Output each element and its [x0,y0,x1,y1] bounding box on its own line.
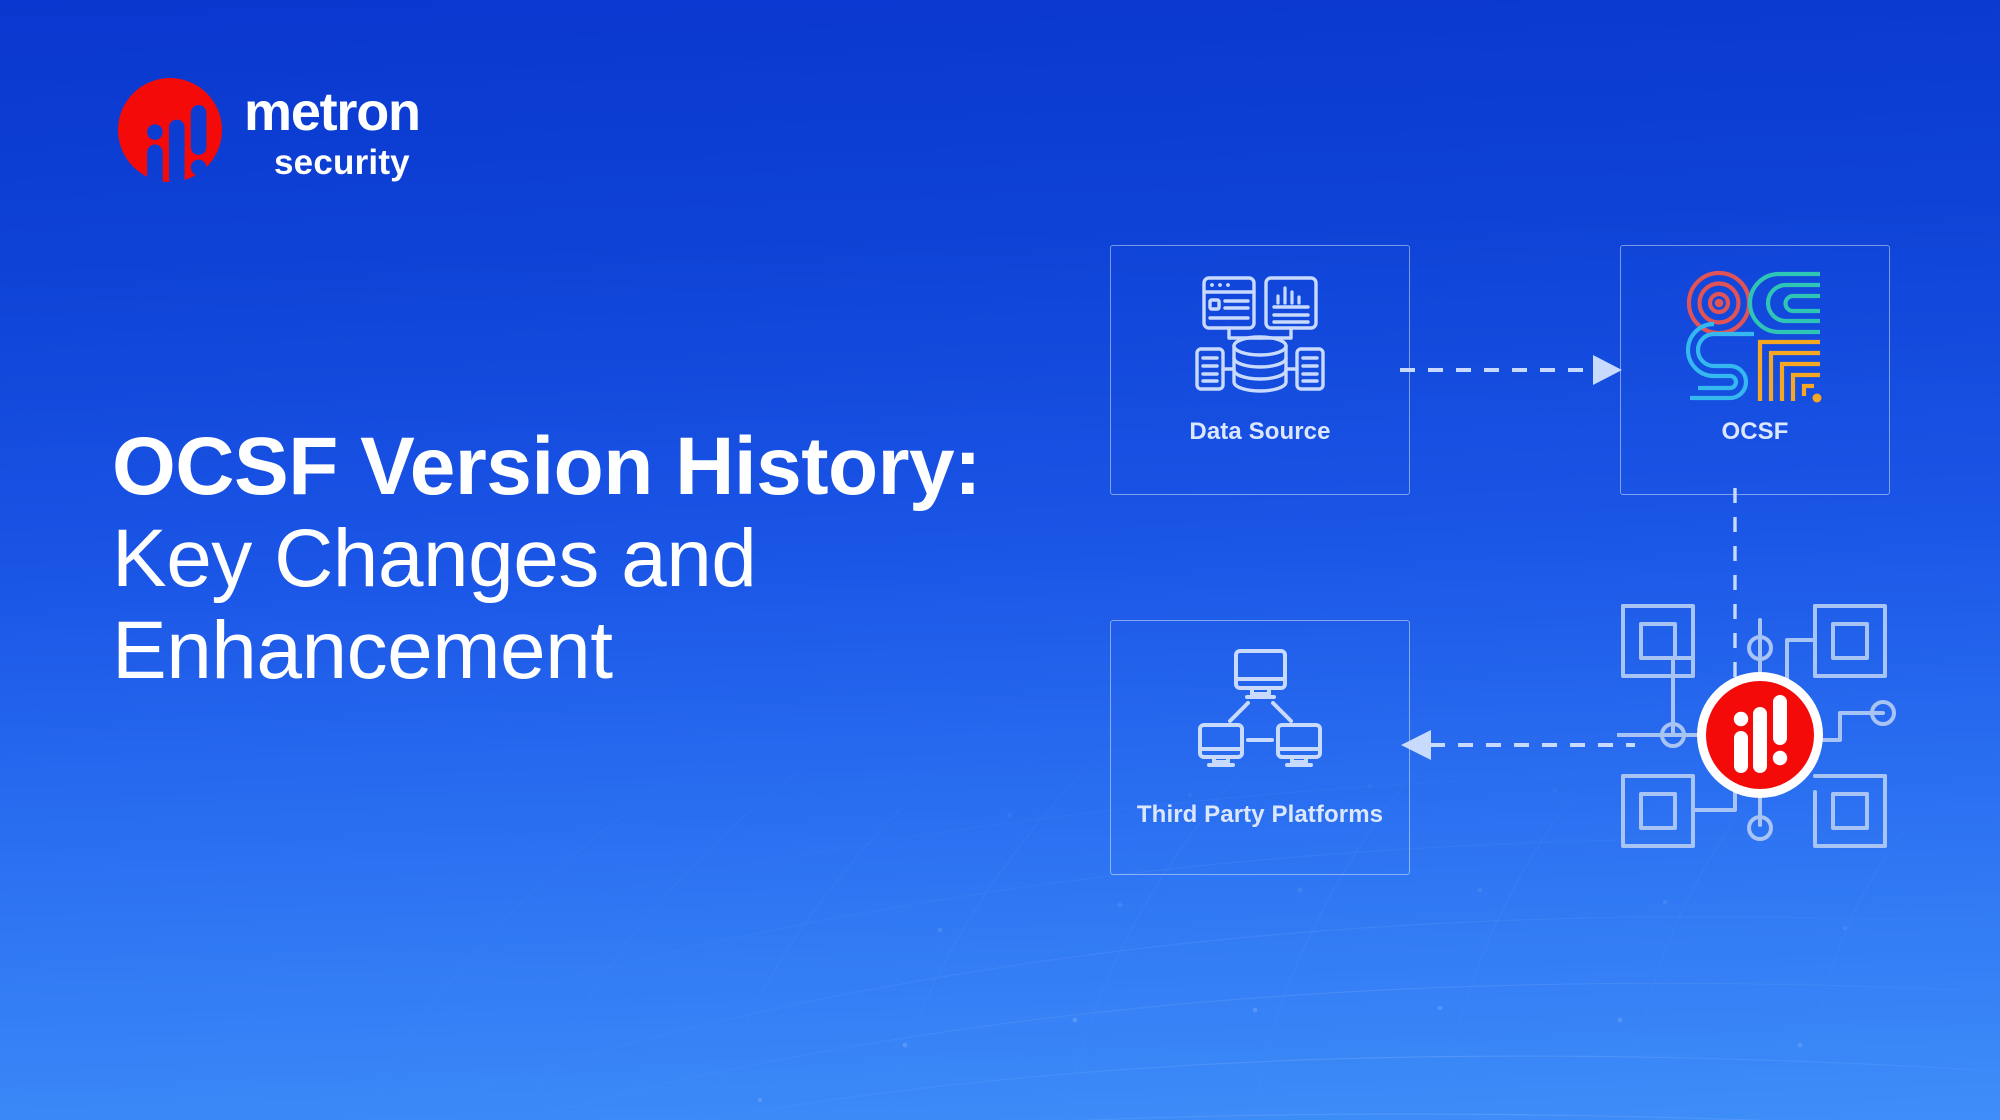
node-label-data-source: Data Source [1111,418,1409,446]
headline-line-1: OCSF Version History: [112,421,1112,513]
slide-canvas: metron security OCSF Version History: Ke… [0,0,2000,1120]
networked-monitors-icon [1190,645,1330,785]
headline-line-2: Key Changes and [112,513,1112,605]
arrow-right-icon [1593,355,1622,385]
headline-line-3: Enhancement [112,605,1112,697]
database-dashboard-icon [1194,270,1326,402]
brand-tagline: security [274,145,420,180]
connector-data-source-to-ocsf [1400,350,1630,390]
node-card-ocsf[interactable]: OCSF [1620,245,1890,495]
page-title: OCSF Version History: Key Changes and En… [112,421,1112,696]
node-card-third-party[interactable]: Third Party Platforms [1110,620,1410,875]
node-card-data-source[interactable]: Data Source [1110,245,1410,495]
ocsf-logo-icon [1686,270,1824,404]
metron-network-hub-icon [1615,580,1905,870]
brand-lockup: metron security [118,78,420,182]
architecture-diagram: Data Source [1095,230,1955,890]
arrow-left-icon [1401,730,1431,760]
brand-wordmark: metron security [244,81,420,180]
metron-logo-icon [118,78,222,182]
node-label-third-party: Third Party Platforms [1111,801,1409,829]
brand-name: metron [244,85,420,139]
connector-hub-to-third-party [1395,725,1635,765]
node-label-ocsf: OCSF [1621,418,1889,446]
